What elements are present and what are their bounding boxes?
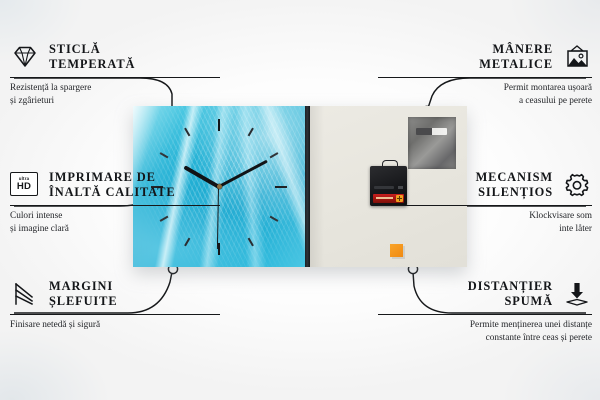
feature-metal-hangers: MÂNERE METALICE Permit montarea ușoară a… (378, 42, 592, 107)
feature-silent-mechanism: MECANISM SILENȚIOS Klockvisare som inte … (378, 170, 592, 235)
feature-hd-print: ultra HD IMPRIMARE DE ÎNALTĂ CALITATE Cu… (10, 170, 220, 235)
mechanism-hanging-tab (382, 160, 398, 169)
ultra-hd-badge-icon: ultra HD (10, 172, 40, 198)
metal-hanger-plate (408, 117, 456, 169)
feature-polished-edges: MARGINI ȘLEFUITE Finisare netedă și sigu… (10, 279, 220, 332)
feature-divider (10, 205, 220, 206)
feature-tempered-glass: STICLĂ TEMPERATĂ Rezistență la spargere … (10, 42, 220, 107)
diamond-icon (10, 44, 40, 70)
feature-title: MÂNERE METALICE (479, 42, 553, 72)
diagonal-lines-icon (10, 281, 40, 307)
gear-icon (562, 172, 592, 198)
feature-title: MECANISM SILENȚIOS (476, 170, 553, 200)
feature-title: STICLĂ TEMPERATĂ (49, 42, 135, 72)
feature-subtitle: Rezistență la spargere și zgârieturi (10, 82, 220, 107)
feature-title: MARGINI ȘLEFUITE (49, 279, 118, 309)
feature-divider (10, 314, 220, 315)
feature-subtitle: Permite menținerea unei distanțe constan… (378, 319, 592, 344)
feature-divider (378, 314, 592, 315)
feature-subtitle: Klockvisare som inte låter (378, 210, 592, 235)
feature-subtitle: Permit montarea ușoară a ceasului pe per… (378, 82, 592, 107)
feature-subtitle: Finisare netedă și sigură (10, 319, 220, 331)
feature-subtitle: Culori intense și imagine clară (10, 210, 220, 235)
feature-foam-spacer: DISTANȚIER SPUMĂ Permite menținerea unei… (378, 279, 592, 344)
picture-hanger-icon (562, 44, 592, 70)
hd-badge-hd-label: HD (17, 182, 31, 192)
feature-title: IMPRIMARE DE ÎNALTĂ CALITATE (49, 170, 176, 200)
arrow-down-onto-layer-icon (562, 281, 592, 307)
feature-divider (378, 77, 592, 78)
feature-title: DISTANȚIER SPUMĂ (468, 279, 553, 309)
infographic-canvas: STICLĂ TEMPERATĂ Rezistență la spargere … (0, 0, 600, 400)
feature-divider (10, 77, 220, 78)
hanger-slot (416, 128, 447, 135)
feature-divider (378, 205, 592, 206)
foam-spacer-pad (390, 244, 403, 257)
